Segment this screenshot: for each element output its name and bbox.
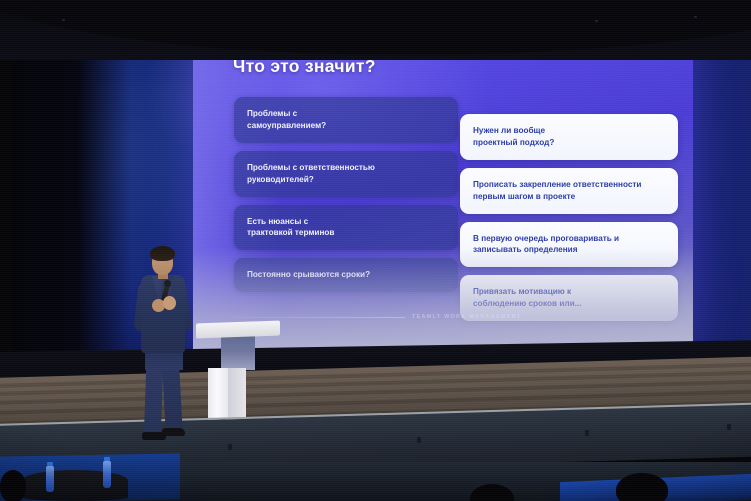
problem-card-text: Проблемы с самоуправлением?: [247, 109, 326, 130]
stage-edge-marker: [585, 430, 589, 436]
problem-card-text: Проблемы с ответственностью руководителе…: [247, 163, 375, 184]
watermark-text: TEAMLY WORK MANAGEMENT: [412, 314, 521, 320]
slide-watermark: TEAMLY WORK MANAGEMENT: [235, 314, 655, 320]
slide-panel: Что это значит? Проблемы с самоуправлени…: [193, 18, 693, 358]
presentation-photo: Что это значит? Проблемы с самоуправлени…: [0, 0, 751, 501]
speaker-right-leg: [162, 366, 183, 435]
problem-card-manager-responsibility: Проблемы с ответственностью руководителе…: [234, 151, 458, 197]
speaker-suit-jacket: [141, 275, 185, 353]
speaker-hair: [150, 246, 175, 261]
problem-card-text: Есть нюансы с трактовкой терминов: [247, 217, 334, 238]
stage-edge-marker: [228, 444, 232, 450]
audience-head: [616, 473, 668, 501]
speaker-right-shoe: [162, 428, 185, 436]
water-bottle-cap: [104, 457, 110, 461]
stage-edge-marker: [727, 424, 731, 430]
microphone-capsule: [164, 280, 171, 287]
stage-edge-marker: [417, 437, 421, 443]
water-bottle: [103, 461, 111, 488]
speaker-left-leg: [144, 366, 164, 439]
ceiling-light-dot: [694, 16, 697, 18]
watermark-rule: [235, 317, 405, 318]
speaker-right-hand: [163, 296, 176, 310]
problem-card-self-management: Проблемы с самоуправлением?: [234, 97, 458, 143]
water-bottle-cap: [47, 462, 53, 466]
audience-head: [0, 470, 26, 501]
answer-card-project-approach: Нужен ли вообще проектный подход?: [460, 114, 678, 160]
answer-card-text: Прописать закрепление ответственности пе…: [473, 180, 641, 201]
ceiling-light-dot: [595, 20, 598, 22]
problem-card-term-interpretation: Есть нюансы с трактовкой терминов: [234, 205, 458, 251]
podium-neck: [221, 336, 255, 370]
answer-card-fix-responsibility: Прописать закрепление ответственности пе…: [460, 168, 678, 214]
water-bottle: [46, 466, 54, 492]
ceiling-light-dot: [62, 19, 65, 21]
answer-card-text: Нужен ли вообще проектный подход?: [473, 126, 554, 147]
side-table: [22, 470, 128, 501]
podium-top: [196, 321, 280, 339]
